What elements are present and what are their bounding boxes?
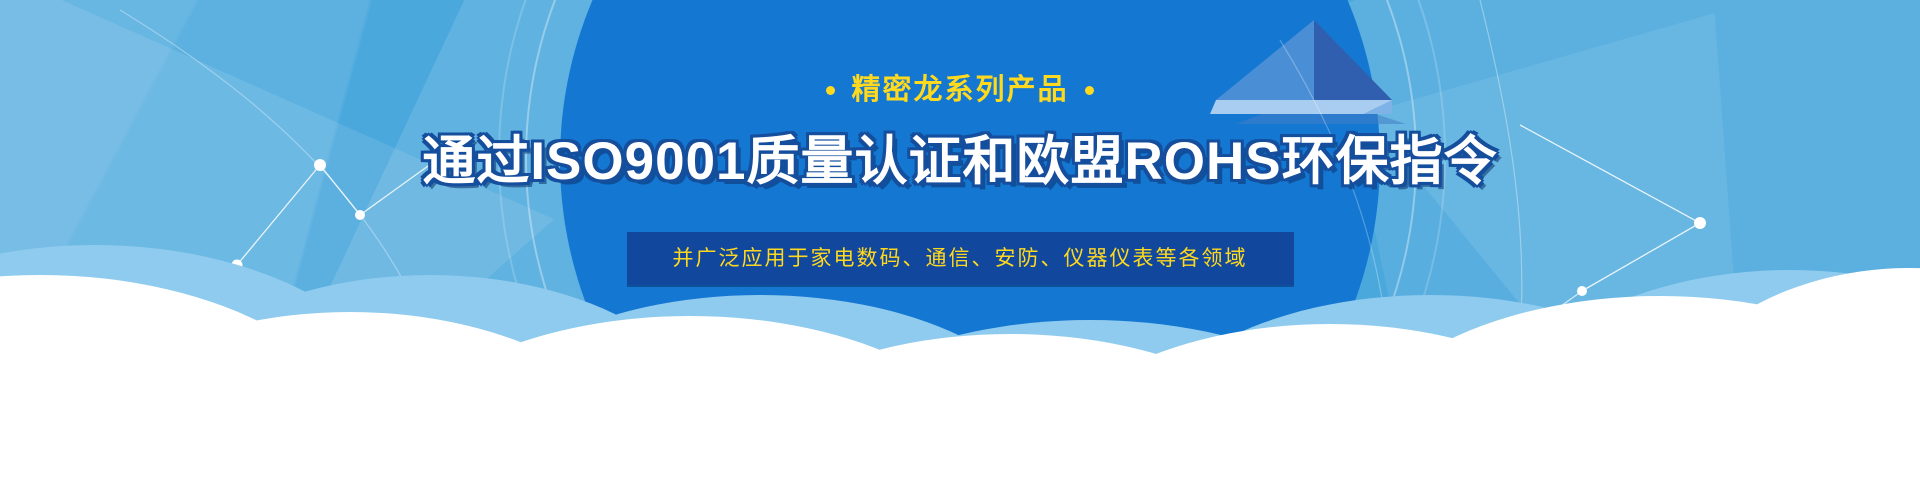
bullet-dot-left-icon bbox=[826, 86, 835, 95]
promo-banner: 精密龙系列产品 通过ISO9001质量认证和欧盟ROHS环保指令 并广泛应用于家… bbox=[0, 0, 1920, 480]
clouds-decoration bbox=[0, 220, 1920, 480]
eyebrow-text: 精密龙系列产品 bbox=[826, 76, 1093, 105]
eyebrow-label: 精密龙系列产品 bbox=[851, 76, 1068, 105]
headline-text: 通过ISO9001质量认证和欧盟ROHS环保指令 bbox=[422, 135, 1497, 188]
bullet-dot-right-icon bbox=[1085, 86, 1094, 95]
